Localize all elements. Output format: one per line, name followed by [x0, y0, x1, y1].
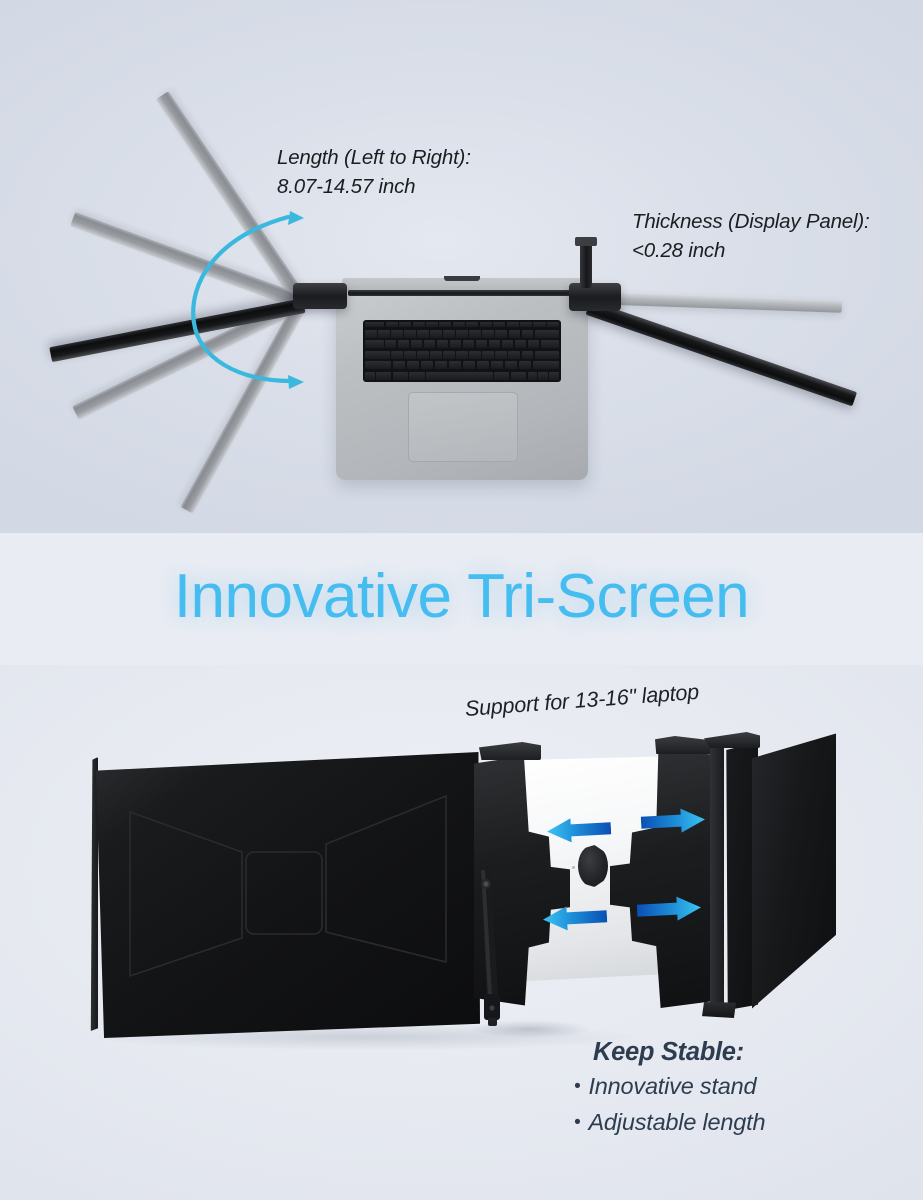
keep-stable-bullet-1: • Innovative stand — [574, 1069, 894, 1105]
right-hinge-post — [580, 242, 592, 288]
left-monitor-panel — [94, 752, 480, 1038]
right-hinge-block — [569, 283, 621, 311]
banner-title: Innovative Tri-Screen — [174, 566, 749, 628]
keep-stable-bullet-1-label: Innovative stand — [588, 1069, 756, 1105]
bullet-glyph: • — [574, 1077, 580, 1096]
right-monitor-hinge-bar — [710, 738, 724, 1014]
right-hinge-post-cap — [575, 237, 597, 246]
keep-stable-heading: Keep Stable: — [593, 1036, 894, 1069]
stand-shadow — [470, 1020, 590, 1038]
laptop-base — [336, 292, 588, 480]
keep-stable-block: Keep Stable: • Innovative stand • Adjust… — [574, 1036, 894, 1141]
laptop-hinge-bar — [348, 290, 576, 296]
keep-stable-bullet-2: • Adjustable length — [574, 1105, 894, 1141]
right-display-panel-silver — [590, 292, 842, 313]
thickness-annotation: Thickness (Display Panel): <0.28 inch — [632, 207, 869, 265]
adjustment-knob[interactable] — [578, 845, 608, 887]
laptop-keyboard — [363, 320, 561, 382]
thickness-annotation-line2: <0.28 inch — [632, 236, 869, 265]
laptop-trackpad — [408, 392, 518, 462]
knob-indicator-dot — [572, 866, 575, 869]
laptop-top-view — [336, 292, 588, 480]
product-infographic: Length (Left to Right): 8.07-14.57 inch … — [0, 0, 923, 1200]
length-annotation: Length (Left to Right): 8.07-14.57 inch — [277, 143, 471, 201]
left-hinge-block — [293, 283, 347, 309]
right-display-panel — [586, 300, 858, 406]
right-monitor-foot — [702, 1002, 736, 1018]
keep-stable-bullet-2-label: Adjustable length — [588, 1105, 765, 1141]
length-annotation-line2: 8.07-14.57 inch — [277, 172, 471, 201]
length-annotation-line1: Length (Left to Right): — [277, 146, 471, 169]
top-diagram-panel: Length (Left to Right): 8.07-14.57 inch … — [0, 0, 923, 533]
thickness-annotation-line1: Thickness (Display Panel): — [632, 210, 869, 233]
headline-banner: Innovative Tri-Screen — [0, 533, 923, 665]
bullet-glyph: • — [574, 1113, 580, 1132]
laptop-notch — [444, 276, 480, 281]
